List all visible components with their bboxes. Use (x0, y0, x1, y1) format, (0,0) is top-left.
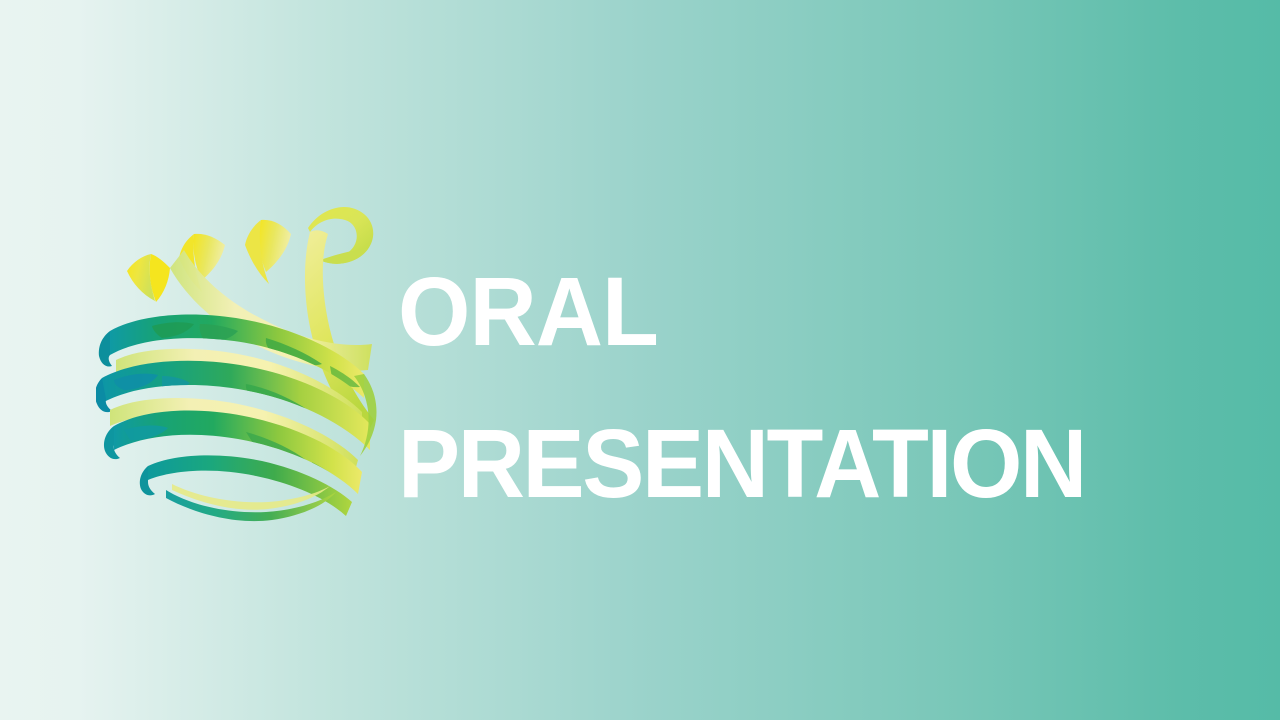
globe-ribbon-artwork (96, 207, 376, 521)
globe-ribbon-logo (96, 198, 380, 522)
ribbon-band-3 (114, 411, 362, 494)
headline-block: ORAL PRESENTATION (398, 236, 1198, 540)
slide-canvas: ORAL PRESENTATION (0, 0, 1280, 720)
title-line-presentation: PRESENTATION (398, 388, 1166, 540)
title-line-oral: ORAL (398, 236, 1166, 388)
ribbon-tip-yellow-3 (259, 220, 291, 272)
leaf-inner (320, 249, 368, 264)
